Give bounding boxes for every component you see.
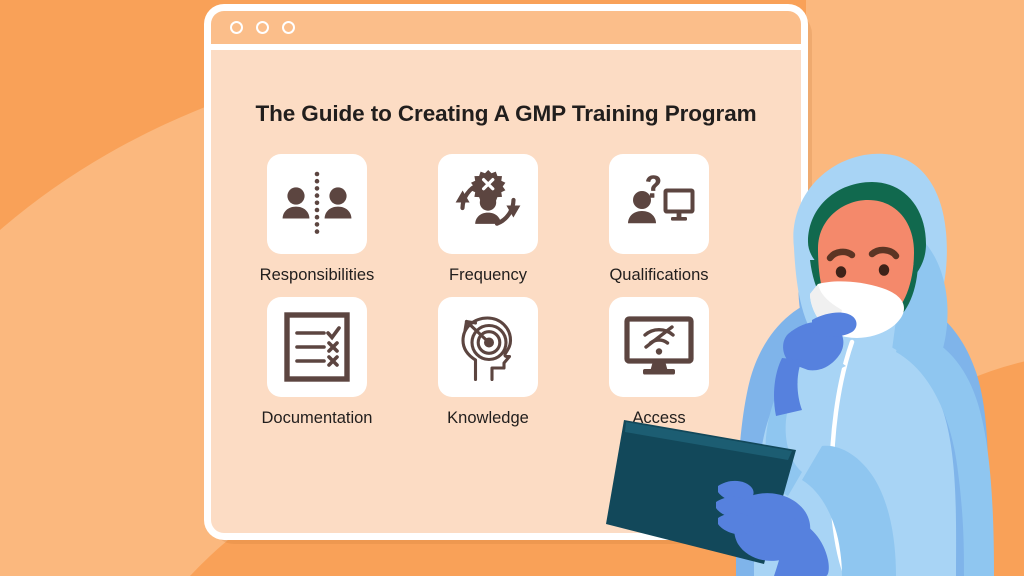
- tile-label-knowledge: Knowledge: [447, 409, 529, 428]
- cycle-arrows-person-gear-icon: [452, 168, 524, 240]
- illustration-canvas: The Guide to Creating A GMP Training Pro…: [0, 0, 1024, 576]
- tile-documentation[interactable]: Documentation: [255, 297, 379, 428]
- window-dot-maximize-icon[interactable]: [282, 21, 295, 34]
- tile-card-documentation[interactable]: [267, 297, 367, 397]
- head-target-arrow-icon: [452, 311, 524, 383]
- tile-card-frequency[interactable]: [438, 154, 538, 254]
- tile-knowledge[interactable]: Knowledge: [426, 297, 550, 428]
- tile-frequency[interactable]: Frequency: [426, 154, 550, 285]
- tile-label-frequency: Frequency: [449, 266, 527, 285]
- eye-right: [879, 264, 889, 276]
- window-dot-close-icon[interactable]: [230, 21, 243, 34]
- tile-label-documentation: Documentation: [262, 409, 373, 428]
- tile-card-responsibilities[interactable]: [267, 154, 367, 254]
- tile-label-responsibilities: Responsibilities: [260, 266, 375, 285]
- window-title-bar: [211, 11, 801, 44]
- worker-illustration: [596, 120, 1024, 576]
- tile-card-knowledge[interactable]: [438, 297, 538, 397]
- eye-left: [836, 266, 846, 278]
- tile-responsibilities[interactable]: Responsibilities: [255, 154, 379, 285]
- two-people-divided-icon: [282, 171, 352, 237]
- window-dot-minimize-icon[interactable]: [256, 21, 269, 34]
- checklist-clipboard-icon: [284, 312, 350, 382]
